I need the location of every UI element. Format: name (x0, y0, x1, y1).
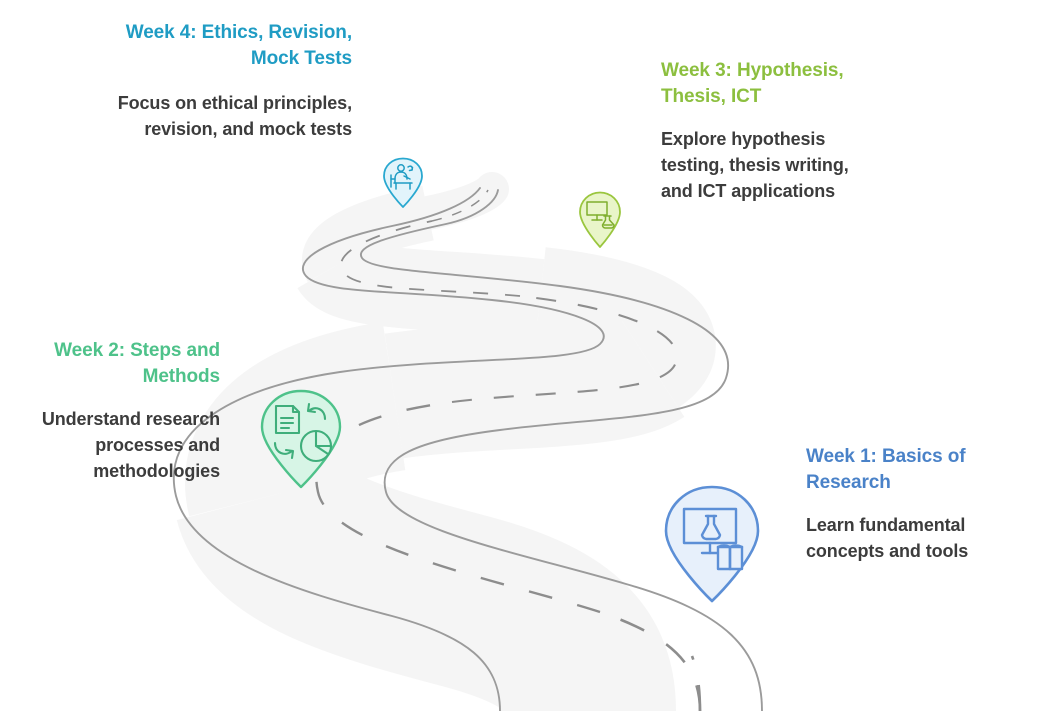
step-text-week2: Week 2: Steps and Methods Understand res… (0, 338, 220, 484)
step-description-week4: Focus on ethical principles, revision, a… (88, 90, 352, 142)
step-title-week2: Week 2: Steps and Methods (0, 338, 220, 390)
step-title-week3: Week 3: Hypothesis, Thesis, ICT (661, 58, 875, 110)
step-description-week3: Explore hypothesis testing, thesis writi… (661, 126, 875, 204)
step-description-week1: Learn fundamental concepts and tools (806, 512, 998, 564)
step-title-week1: Week 1: Basics of Research (806, 444, 998, 496)
roadmap-infographic: Week 4: Ethics, Revision, Mock Tests Foc… (0, 0, 1041, 711)
step-title-week4: Week 4: Ethics, Revision, Mock Tests (88, 20, 352, 72)
map-pin-week3[interactable] (578, 191, 622, 249)
step-text-week3: Week 3: Hypothesis, Thesis, ICT Explore … (661, 58, 875, 204)
map-pin-week4[interactable] (382, 157, 424, 209)
map-pin-week2[interactable] (259, 389, 343, 489)
step-text-week1: Week 1: Basics of Research Learn fundame… (806, 444, 998, 564)
step-description-week2: Understand research processes and method… (0, 406, 220, 484)
step-text-week4: Week 4: Ethics, Revision, Mock Tests Foc… (88, 20, 352, 142)
map-pin-week1[interactable] (662, 485, 762, 603)
